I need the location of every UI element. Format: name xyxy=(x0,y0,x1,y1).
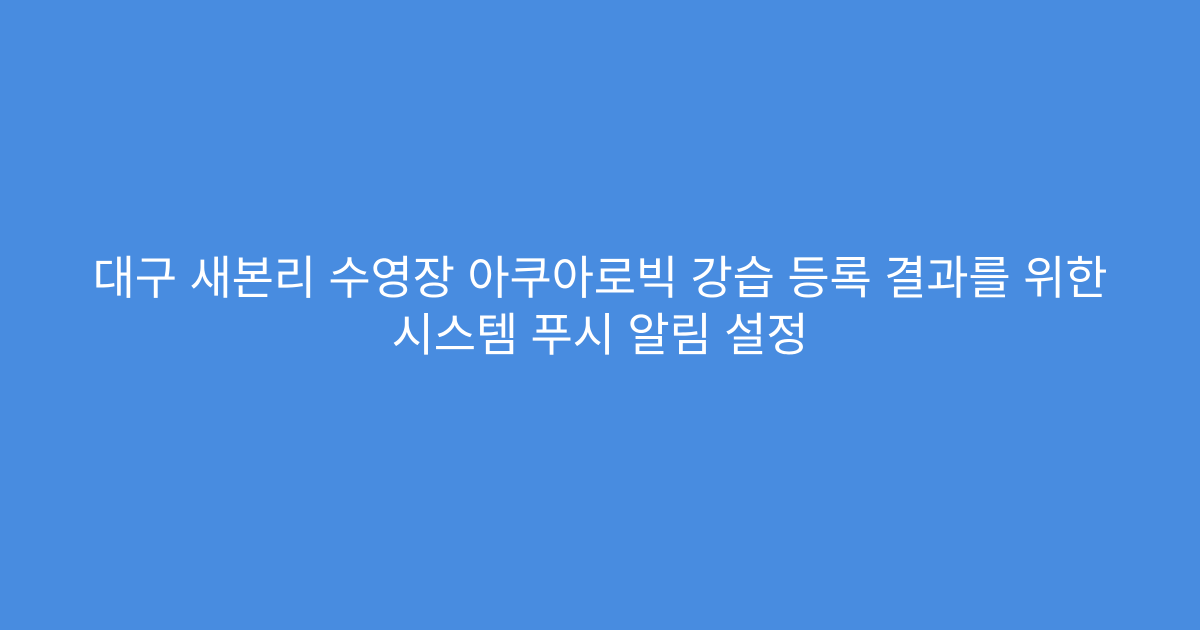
headline-block: 대구 새본리 수영장 아쿠아로빅 강습 등록 결과를 위한 시스템 푸시 알림 … xyxy=(70,250,1130,364)
social-share-card: 대구 새본리 수영장 아쿠아로빅 강습 등록 결과를 위한 시스템 푸시 알림 … xyxy=(0,0,1200,630)
page-title: 대구 새본리 수영장 아쿠아로빅 강습 등록 결과를 위한 시스템 푸시 알림 … xyxy=(90,250,1110,364)
